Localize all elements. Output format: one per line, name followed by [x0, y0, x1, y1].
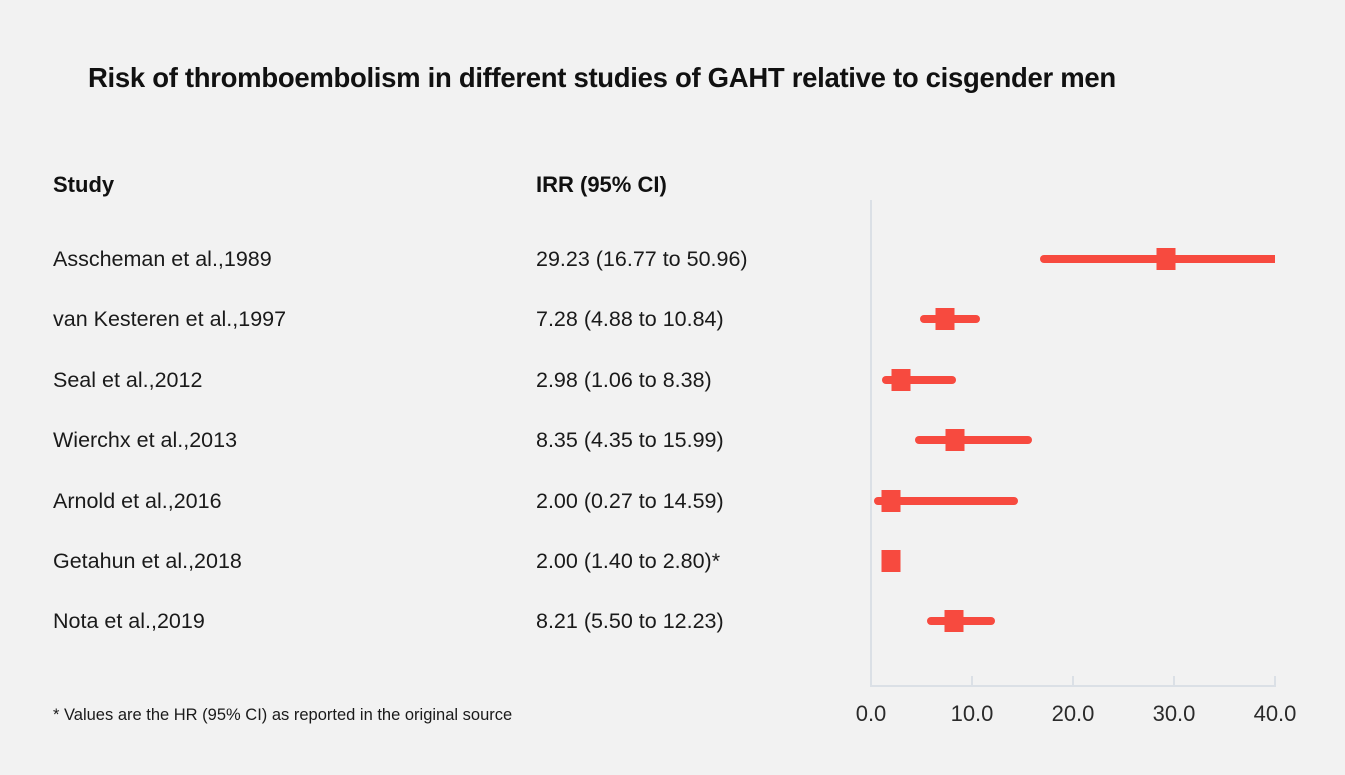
table-row: van Kesteren et al.,19977.28 (4.88 to 10…	[0, 306, 1345, 366]
table-row: Asscheman et al.,198929.23 (16.77 to 50.…	[0, 246, 1345, 306]
study-name: Asscheman et al.,1989	[53, 246, 272, 272]
forest-plot-page: Risk of thromboembolism in different stu…	[0, 0, 1345, 775]
table-row: Wierchx et al.,20138.35 (4.35 to 15.99)	[0, 427, 1345, 487]
irr-value: 7.28 (4.88 to 10.84)	[536, 306, 724, 332]
study-name: Getahun et al.,2018	[53, 548, 242, 574]
table-row: Seal et al.,20122.98 (1.06 to 8.38)	[0, 367, 1345, 427]
irr-value: 8.21 (5.50 to 12.23)	[536, 608, 724, 634]
irr-value: 2.00 (0.27 to 14.59)	[536, 488, 724, 514]
table-row: Arnold et al.,20162.00 (0.27 to 14.59)	[0, 488, 1345, 548]
table-row: Getahun et al.,20182.00 (1.40 to 2.80)*	[0, 548, 1345, 608]
study-name: van Kesteren et al.,1997	[53, 306, 286, 332]
study-name: Nota et al.,2019	[53, 608, 205, 634]
irr-value: 8.35 (4.35 to 15.99)	[536, 427, 724, 453]
footnote: * Values are the HR (95% CI) as reported…	[53, 706, 512, 725]
irr-value: 2.00 (1.40 to 2.80)*	[536, 548, 720, 574]
irr-value: 29.23 (16.77 to 50.96)	[536, 246, 748, 272]
study-rows: Asscheman et al.,198929.23 (16.77 to 50.…	[0, 0, 1345, 775]
study-name: Wierchx et al.,2013	[53, 427, 237, 453]
study-name: Seal et al.,2012	[53, 367, 202, 393]
study-name: Arnold et al.,2016	[53, 488, 222, 514]
table-row: Nota et al.,20198.21 (5.50 to 12.23)	[0, 608, 1345, 668]
irr-value: 2.98 (1.06 to 8.38)	[536, 367, 712, 393]
